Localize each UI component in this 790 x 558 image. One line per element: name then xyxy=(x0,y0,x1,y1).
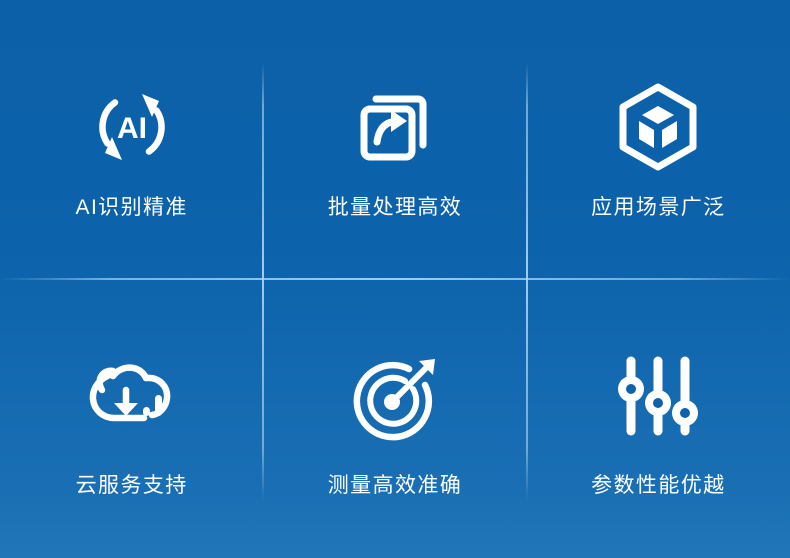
batch-copy-arrow-icon xyxy=(347,75,443,179)
feature-label: 应用场景广泛 xyxy=(591,197,725,218)
cloud-download-chart-icon xyxy=(82,347,182,451)
feature-cell-measurement-accuracy[interactable]: 测量高效准确 xyxy=(263,279,526,558)
feature-cell-parameter-performance[interactable]: 参数性能优越 xyxy=(527,279,790,558)
hexagon-cube-icon xyxy=(610,75,706,179)
sliders-settings-icon xyxy=(610,347,706,451)
feature-highlights-panel: AI AI识别精准 批量处理高效 xyxy=(0,0,790,558)
feature-cell-cloud-service[interactable]: 云服务支持 xyxy=(0,279,263,558)
target-arrow-icon xyxy=(347,347,443,451)
feature-cell-ai-recognition[interactable]: AI AI识别精准 xyxy=(0,0,263,279)
feature-label: 批量处理高效 xyxy=(328,197,462,218)
feature-cell-batch-processing[interactable]: 批量处理高效 xyxy=(263,0,526,279)
feature-label: 测量高效准确 xyxy=(328,475,462,496)
feature-label: AI识别精准 xyxy=(76,197,188,218)
feature-label: 参数性能优越 xyxy=(591,475,725,496)
feature-grid: AI AI识别精准 批量处理高效 xyxy=(0,0,790,558)
feature-label: 云服务支持 xyxy=(76,475,188,496)
feature-cell-application-scenarios[interactable]: 应用场景广泛 xyxy=(527,0,790,279)
ai-circular-arrows-icon: AI xyxy=(84,75,180,179)
svg-text:AI: AI xyxy=(117,112,147,145)
